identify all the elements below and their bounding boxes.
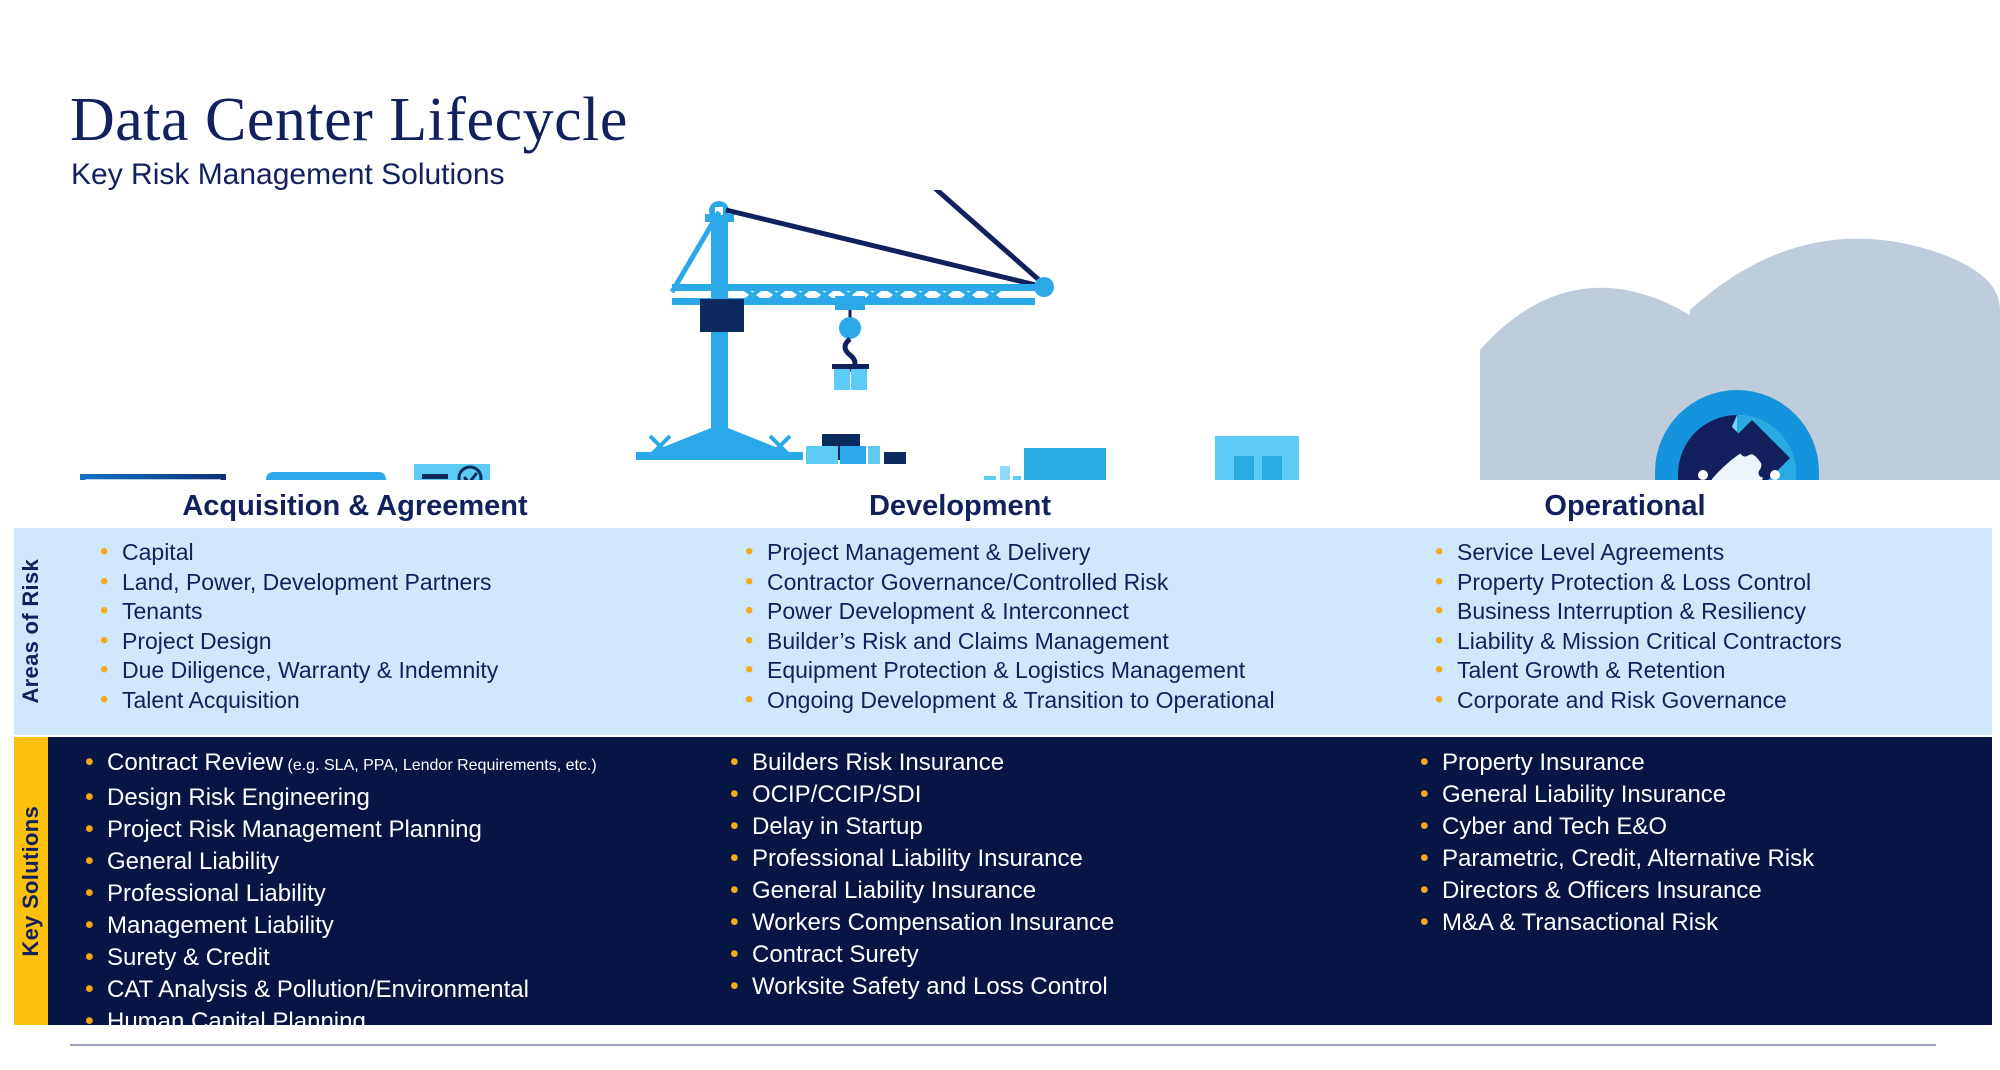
list-item: General Liability xyxy=(83,846,703,878)
list-item: Property Insurance xyxy=(1418,747,2000,779)
list-item: Builder’s Risk and Claims Management xyxy=(743,627,1408,657)
list-item: Workers Compensation Insurance xyxy=(728,907,1393,939)
areas-of-risk-panel: Areas of Risk CapitalLand, Power, Develo… xyxy=(14,528,1992,735)
page-title: Data Center Lifecycle xyxy=(70,88,628,153)
list-item: Land, Power, Development Partners xyxy=(98,568,718,598)
list-item: Project Management & Delivery xyxy=(743,538,1408,568)
list-item: Project Design xyxy=(98,627,718,657)
list-item: Human Capital Planning xyxy=(83,1006,703,1038)
list-item: Property Protection & Loss Control xyxy=(1433,568,2000,598)
list-item: General Liability Insurance xyxy=(1418,779,2000,811)
tower-crane-icon xyxy=(636,190,1054,460)
footer-divider xyxy=(70,1044,1936,1046)
document-check-icon xyxy=(410,464,516,480)
list-item: Corporate and Risk Governance xyxy=(1433,686,2000,716)
list-item: Cyber and Tech E&O xyxy=(1418,811,2000,843)
list-item: Equipment Protection & Logistics Managem… xyxy=(743,656,1408,686)
list-item: Liability & Mission Critical Contractors xyxy=(1433,627,2000,657)
solutions-column-acquisition: Contract Review (e.g. SLA, PPA, Lendor R… xyxy=(48,747,703,1025)
list-item: Capital xyxy=(98,538,718,568)
list-item: Power Development & Interconnect xyxy=(743,597,1408,627)
slide-root: Data Center Lifecycle Key Risk Managemen… xyxy=(0,0,2000,1070)
list-item: Talent Acquisition xyxy=(98,686,718,716)
solutions-column-operational: Property InsuranceGeneral Liability Insu… xyxy=(1393,747,2000,1025)
risk-column-operational: Service Level AgreementsProperty Protect… xyxy=(1408,538,2000,735)
construction-crates-icon xyxy=(806,434,906,464)
key-solutions-rail-label: Key Solutions xyxy=(18,806,44,957)
list-item: Management Liability xyxy=(83,910,703,942)
list-item: Contractor Governance/Controlled Risk xyxy=(743,568,1408,598)
monitor-blueprint-icon xyxy=(80,474,234,480)
list-item: Due Diligence, Warranty & Indemnity xyxy=(98,656,718,686)
list-item: OCIP/CCIP/SDI xyxy=(728,779,1393,811)
list-item: Worksite Safety and Loss Control xyxy=(728,971,1393,1003)
risk-list-acquisition: CapitalLand, Power, Development Partners… xyxy=(98,538,718,715)
list-item: M&A & Transactional Risk xyxy=(1418,907,2000,939)
solutions-column-development: Builders Risk InsuranceOCIP/CCIP/SDIDela… xyxy=(703,747,1393,1025)
list-item: Contract Surety xyxy=(728,939,1393,971)
key-solutions-rail: Key Solutions xyxy=(14,737,48,1025)
list-item: Ongoing Development & Transition to Oper… xyxy=(743,686,1408,716)
list-item: Talent Growth & Retention xyxy=(1433,656,2000,686)
list-item: Professional Liability xyxy=(83,878,703,910)
list-item: Surety & Credit xyxy=(83,942,703,974)
list-item: Project Risk Management Planning xyxy=(83,814,703,846)
list-item: Contract Review (e.g. SLA, PPA, Lendor R… xyxy=(83,747,703,782)
key-solutions-panel: Key Solutions Contract Review (e.g. SLA,… xyxy=(14,737,1992,1025)
laptop-dollar-icon: $ xyxy=(254,472,398,480)
list-item: Parametric, Credit, Alternative Risk xyxy=(1418,843,2000,875)
list-item: General Liability Insurance xyxy=(728,875,1393,907)
list-item: Business Interruption & Resiliency xyxy=(1433,597,2000,627)
areas-of-risk-rail: Areas of Risk xyxy=(14,528,48,735)
construction-site-icon xyxy=(924,448,1182,480)
list-item: Professional Liability Insurance xyxy=(728,843,1393,875)
risk-column-development: Project Management & DeliveryContractor … xyxy=(718,538,1408,735)
list-item: Delay in Startup xyxy=(728,811,1393,843)
list-item: Directors & Officers Insurance xyxy=(1418,875,2000,907)
list-item: Tenants xyxy=(98,597,718,627)
list-item-note: (e.g. SLA, PPA, Lendor Requirements, etc… xyxy=(283,757,597,774)
list-item: Service Level Agreements xyxy=(1433,538,2000,568)
list-item: Builders Risk Insurance xyxy=(728,747,1393,779)
phase-heading-operational: Operational xyxy=(1330,490,1920,523)
list-item: CAT Analysis & Pollution/Environmental xyxy=(83,974,703,1006)
solutions-list-development: Builders Risk InsuranceOCIP/CCIP/SDIDela… xyxy=(728,747,1393,1003)
risk-column-acquisition: CapitalLand, Power, Development Partners… xyxy=(48,538,718,735)
risk-list-development: Project Management & DeliveryContractor … xyxy=(743,538,1408,715)
page-subtitle: Key Risk Management Solutions xyxy=(71,158,505,192)
areas-of-risk-rail-label: Areas of Risk xyxy=(18,559,44,704)
risk-list-operational: Service Level AgreementsProperty Protect… xyxy=(1433,538,2000,715)
phase-heading-acquisition: Acquisition & Agreement xyxy=(60,490,650,523)
lifecycle-illustration: $ xyxy=(0,190,2000,480)
list-item: Design Risk Engineering xyxy=(83,782,703,814)
solutions-list-acquisition: Contract Review (e.g. SLA, PPA, Lendor R… xyxy=(83,747,703,1038)
solutions-list-operational: Property InsuranceGeneral Liability Insu… xyxy=(1418,747,2000,939)
phase-heading-development: Development xyxy=(680,490,1240,523)
